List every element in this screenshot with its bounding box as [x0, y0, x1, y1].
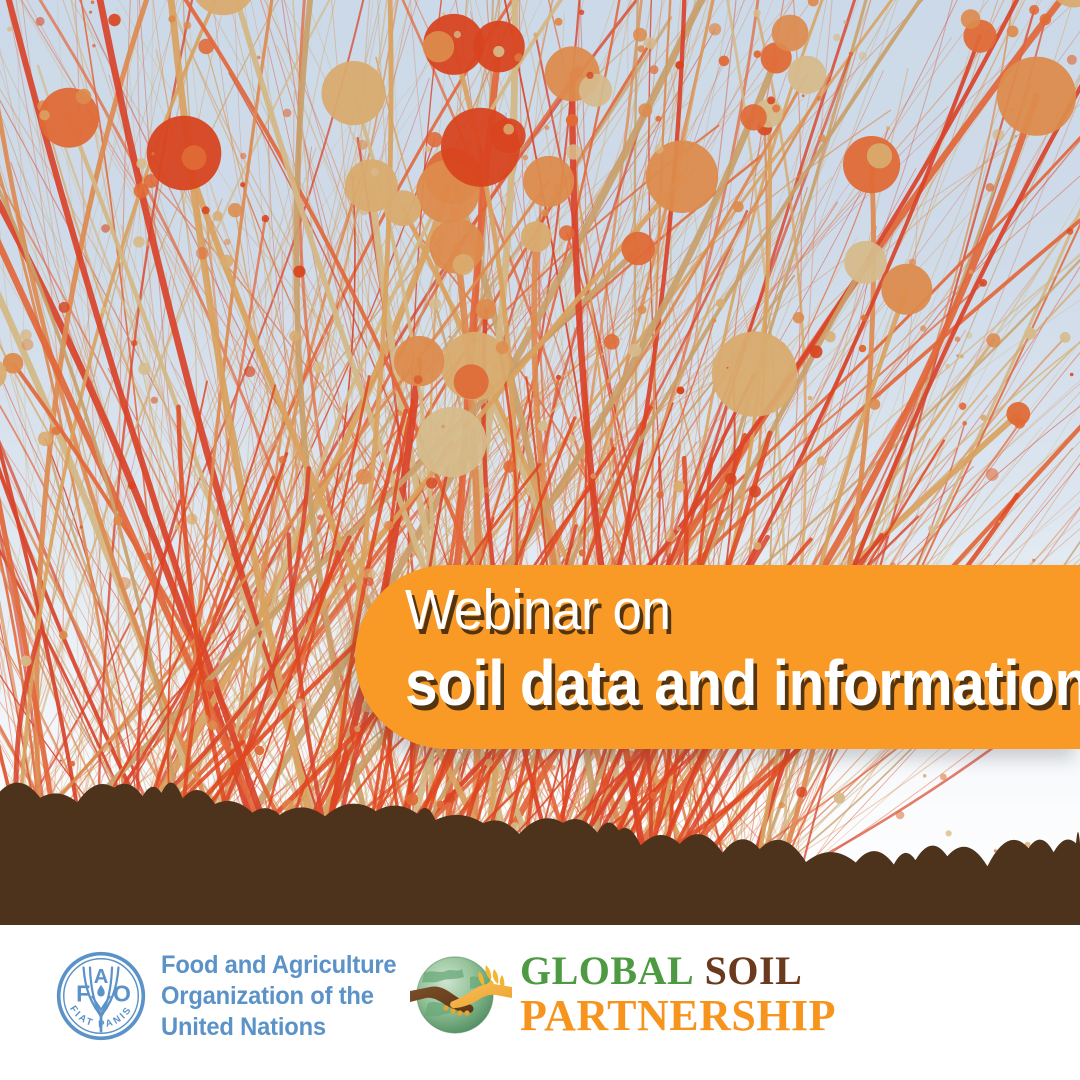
- seed-dot: [8, 744, 10, 746]
- seed-dot: [818, 134, 826, 142]
- seed-dot: [182, 145, 207, 170]
- seed-dot: [579, 74, 612, 107]
- seed-dot: [364, 577, 373, 586]
- seed-dot: [220, 255, 233, 268]
- seed-dot: [113, 516, 122, 525]
- seed-dot: [526, 326, 531, 331]
- seed-dot: [579, 10, 584, 15]
- seed-dot: [655, 116, 661, 122]
- seed-dot: [454, 364, 489, 399]
- seed-dot: [198, 39, 214, 55]
- seed-dot: [279, 456, 287, 464]
- seed-dot: [484, 487, 490, 493]
- gsp-logo: GLOBAL SOIL PARTNERSHIP: [408, 947, 836, 1042]
- fao-name-line-2: Organization of the: [161, 981, 396, 1012]
- seed-dot: [545, 125, 550, 130]
- seed-dot: [307, 452, 310, 455]
- seed-dot: [414, 375, 423, 384]
- seed-dot: [118, 577, 131, 590]
- seed-dot: [709, 23, 721, 35]
- seed-dot: [664, 531, 675, 542]
- seed-dot: [909, 259, 917, 267]
- soil-layer: [0, 770, 1080, 930]
- seed-dot: [311, 305, 314, 308]
- seed-dot: [590, 473, 596, 479]
- seed-dot: [960, 354, 964, 358]
- seed-dot: [637, 305, 646, 314]
- seed-dot: [793, 312, 804, 323]
- seed-dot: [788, 365, 796, 373]
- seed-dot: [449, 336, 451, 338]
- seed-dot: [186, 513, 197, 524]
- seed-dot: [542, 209, 549, 216]
- seed-dot: [1015, 135, 1017, 137]
- fao-emblem-icon: F A O FIAT PANIS: [55, 950, 147, 1042]
- seed-dot: [568, 435, 575, 442]
- fao-name-line-1: Food and Agriculture: [161, 950, 396, 981]
- seed-dot: [579, 549, 586, 556]
- seed-dot: [101, 224, 110, 233]
- seed-dot: [533, 33, 538, 38]
- seed-dot: [59, 631, 68, 640]
- seed-dot: [1070, 373, 1074, 377]
- seed-dot: [503, 124, 514, 135]
- seed-dot: [136, 158, 147, 169]
- seed-dot: [39, 110, 49, 120]
- seed-dot: [240, 153, 246, 159]
- seed-dot: [133, 236, 144, 247]
- seed-dot: [537, 421, 547, 431]
- seed-dot: [244, 366, 255, 377]
- seed-dot: [283, 109, 292, 118]
- seed-dot: [956, 354, 959, 357]
- seed-dot: [212, 211, 222, 221]
- seed-dot: [586, 72, 593, 79]
- seed-dot: [183, 22, 191, 30]
- seed-dot: [733, 201, 744, 212]
- seed-dot: [397, 411, 402, 416]
- seed-dot: [849, 52, 854, 57]
- seed-dot: [676, 527, 680, 531]
- seed-dot: [716, 299, 725, 308]
- seed-dot: [203, 680, 215, 692]
- seed-dot: [959, 403, 966, 410]
- seed-dot: [817, 456, 826, 465]
- seed-dot: [566, 114, 578, 126]
- seed-dot: [442, 12, 445, 15]
- seed-dot: [514, 53, 522, 61]
- seed-dot: [151, 397, 158, 404]
- seed-dot: [725, 473, 737, 485]
- seed-dot: [727, 367, 729, 369]
- seed-dot: [52, 426, 61, 435]
- seed-dot: [788, 56, 826, 94]
- seed-dot: [208, 720, 218, 730]
- seed-dot: [60, 760, 62, 762]
- gsp-name-row-2: PARTNERSHIP: [520, 994, 836, 1038]
- seed-dot: [980, 415, 986, 421]
- seed-dot: [623, 750, 634, 761]
- seed-dot: [1060, 332, 1071, 343]
- seed-dot: [485, 759, 493, 767]
- seed-dot: [293, 266, 305, 278]
- seed-dot: [289, 331, 300, 342]
- seed-dot: [969, 270, 974, 275]
- seed-dot: [1067, 228, 1074, 235]
- seed-dot: [131, 340, 137, 346]
- seed-dot: [429, 298, 441, 310]
- seed-dot: [1029, 5, 1039, 15]
- seed-dot: [255, 746, 264, 755]
- seed-dot: [779, 342, 786, 349]
- seed-dot: [228, 203, 242, 217]
- seed-dot: [825, 331, 836, 342]
- seed-dot: [861, 315, 868, 322]
- seed-dot: [523, 155, 529, 161]
- seed-dot: [138, 363, 150, 375]
- seed-dot: [886, 126, 890, 130]
- seed-dot: [240, 182, 245, 187]
- seed-dot: [753, 542, 761, 550]
- seed-dot: [675, 61, 684, 70]
- seed-dot: [224, 239, 230, 245]
- seed-dot: [638, 45, 645, 52]
- seed-dot: [80, 526, 83, 529]
- seed-dot: [313, 362, 325, 374]
- seed-dot: [740, 104, 766, 130]
- seed-dot: [496, 341, 509, 354]
- fao-logo: F A O FIAT PANIS Food and Agriculture Or…: [55, 950, 409, 1042]
- fao-name-text: Food and Agriculture Organization of the…: [161, 950, 396, 1042]
- seed-dot: [196, 247, 209, 260]
- seed-dot: [198, 714, 208, 724]
- seed-dot: [772, 15, 809, 52]
- seed-dot: [92, 44, 95, 47]
- fao-name-line-3: United Nations: [161, 1012, 396, 1043]
- seed-dot: [59, 302, 70, 313]
- seed-dot: [644, 37, 656, 49]
- seed-dot: [719, 56, 730, 67]
- seed-dot: [523, 156, 574, 207]
- seed-dot: [491, 118, 526, 153]
- seed-dot: [955, 336, 961, 342]
- seed-dot: [650, 65, 659, 74]
- seed-dot: [859, 52, 868, 61]
- seed-dot: [354, 726, 360, 732]
- seed-dot: [554, 183, 564, 193]
- seed-dot: [322, 61, 386, 125]
- seed-dot: [36, 17, 45, 26]
- seed-dot: [966, 332, 973, 339]
- seed-dot: [257, 56, 261, 60]
- seed-dot: [808, 396, 813, 401]
- seed-dot: [211, 633, 218, 640]
- seed-dot: [986, 183, 995, 192]
- seed-dot: [673, 481, 685, 493]
- seed-dot: [38, 432, 53, 447]
- title-line-1: Webinar on: [405, 576, 1019, 639]
- seed-dot: [986, 333, 1000, 347]
- title-line-2: soil data and information: [405, 639, 1009, 715]
- gsp-name-text: GLOBAL SOIL PARTNERSHIP: [520, 951, 836, 1038]
- seed-dot: [621, 232, 655, 266]
- seed-dot: [450, 207, 461, 218]
- seed-dot: [441, 425, 445, 429]
- seed-dot: [621, 338, 623, 340]
- seed-dot: [262, 215, 269, 222]
- seed-dot: [91, 0, 95, 4]
- seed-dot: [20, 329, 32, 341]
- seed-dot: [833, 34, 841, 42]
- seed-dot: [454, 31, 461, 38]
- seed-dot: [753, 9, 761, 17]
- seed-dot: [108, 14, 120, 26]
- seed-dot: [76, 89, 91, 104]
- seed-dot: [31, 736, 33, 738]
- seed-dot: [458, 752, 460, 754]
- seed-dot: [294, 698, 305, 709]
- seed-dot: [202, 206, 210, 214]
- seed-dot: [532, 405, 537, 410]
- seed-dot: [997, 57, 1076, 136]
- seed-dot: [869, 399, 880, 410]
- gsp-name-row-1: GLOBAL SOIL: [520, 951, 836, 991]
- seed-dot: [566, 144, 581, 159]
- seed-dot: [128, 482, 136, 490]
- seed-dot: [423, 31, 454, 62]
- gsp-word-global: GLOBAL: [520, 948, 694, 993]
- title-banner: Webinar on soil data and information: [355, 565, 1080, 749]
- seed-dot: [426, 478, 437, 489]
- poster-canvas: Webinar on soil data and information: [0, 0, 1080, 1080]
- seed-dot: [802, 94, 805, 97]
- svg-text:A: A: [94, 966, 109, 988]
- seed-dot: [151, 152, 154, 155]
- seed-dot: [979, 279, 987, 287]
- seed-dot: [810, 345, 823, 358]
- seed-dot: [144, 553, 152, 561]
- seed-dot: [385, 190, 421, 226]
- seed-dot: [1010, 108, 1014, 112]
- seed-dot: [893, 497, 900, 504]
- seed-dot: [175, 525, 180, 530]
- seed-dot: [772, 105, 780, 113]
- seed-dot: [145, 241, 150, 246]
- seed-dot: [677, 387, 685, 395]
- seed-dot: [859, 345, 867, 353]
- seed-dot: [356, 469, 372, 485]
- seed-dot: [493, 46, 504, 57]
- seed-dot: [843, 20, 847, 24]
- seed-dot: [604, 334, 620, 350]
- seed-dot: [961, 9, 981, 29]
- seed-dot: [920, 325, 926, 331]
- gsp-globe-handshake-icon: [408, 947, 518, 1042]
- seed-dot: [754, 50, 762, 58]
- seed-dot: [1007, 26, 1019, 38]
- gsp-word-partnership: PARTNERSHIP: [520, 991, 836, 1040]
- seed-dot: [104, 744, 111, 751]
- seed-dot: [521, 221, 552, 252]
- seed-dot: [712, 318, 716, 322]
- seed-dot: [654, 144, 663, 153]
- seed-dot: [962, 421, 967, 426]
- seed-dot: [101, 307, 107, 313]
- seed-dot: [89, 11, 92, 14]
- title-text-block: Webinar on soil data and information: [405, 576, 1065, 715]
- seed-dot: [844, 241, 887, 284]
- seed-dot: [453, 254, 474, 275]
- seed-dot: [384, 521, 394, 531]
- gsp-word-soil: SOIL: [705, 948, 803, 993]
- seed-dot: [359, 205, 369, 215]
- seed-dot: [69, 761, 75, 767]
- seed-dot: [633, 28, 647, 42]
- seed-dot: [1067, 55, 1077, 65]
- svg-text:O: O: [113, 981, 131, 1007]
- seed-dot: [559, 225, 574, 240]
- seed-dot: [718, 520, 724, 526]
- seed-dot: [749, 486, 761, 498]
- seed-dot: [20, 656, 31, 667]
- seed-dot: [555, 18, 563, 26]
- seed-dot: [168, 15, 175, 22]
- seed-dot: [427, 132, 442, 147]
- seed-dot: [416, 407, 486, 477]
- seed-dot: [1040, 14, 1052, 26]
- seed-dot: [881, 264, 932, 315]
- seed-dot: [817, 96, 822, 101]
- seed-dot: [476, 299, 497, 320]
- seed-dot: [638, 103, 652, 117]
- seed-dot: [645, 286, 649, 290]
- seed-dot: [945, 364, 950, 369]
- seed-dot: [1032, 559, 1035, 562]
- seed-dot: [998, 520, 1001, 523]
- seed-dot: [1006, 402, 1030, 426]
- seed-dot: [317, 515, 322, 520]
- seed-dot: [1024, 328, 1036, 340]
- seed-dot: [608, 313, 612, 317]
- seed-dot: [7, 27, 12, 32]
- footer-logo-bar: F A O FIAT PANIS Food and Agriculture Or…: [0, 925, 1080, 1080]
- seed-dot: [767, 96, 775, 104]
- seed-dot: [656, 491, 664, 499]
- seed-dot: [928, 525, 935, 532]
- seed-dot: [358, 140, 368, 150]
- seed-dot: [503, 460, 515, 472]
- seed-dot: [808, 0, 819, 7]
- seed-dot: [867, 143, 892, 168]
- seed-dot: [992, 129, 1004, 141]
- seed-dot: [556, 375, 561, 380]
- svg-text:F: F: [76, 981, 90, 1007]
- seed-dot: [425, 146, 431, 152]
- seed-dot: [758, 154, 762, 158]
- seed-dot: [914, 505, 916, 507]
- seed-dot: [986, 468, 999, 481]
- seed-dot: [628, 344, 641, 357]
- seed-dot: [371, 168, 379, 176]
